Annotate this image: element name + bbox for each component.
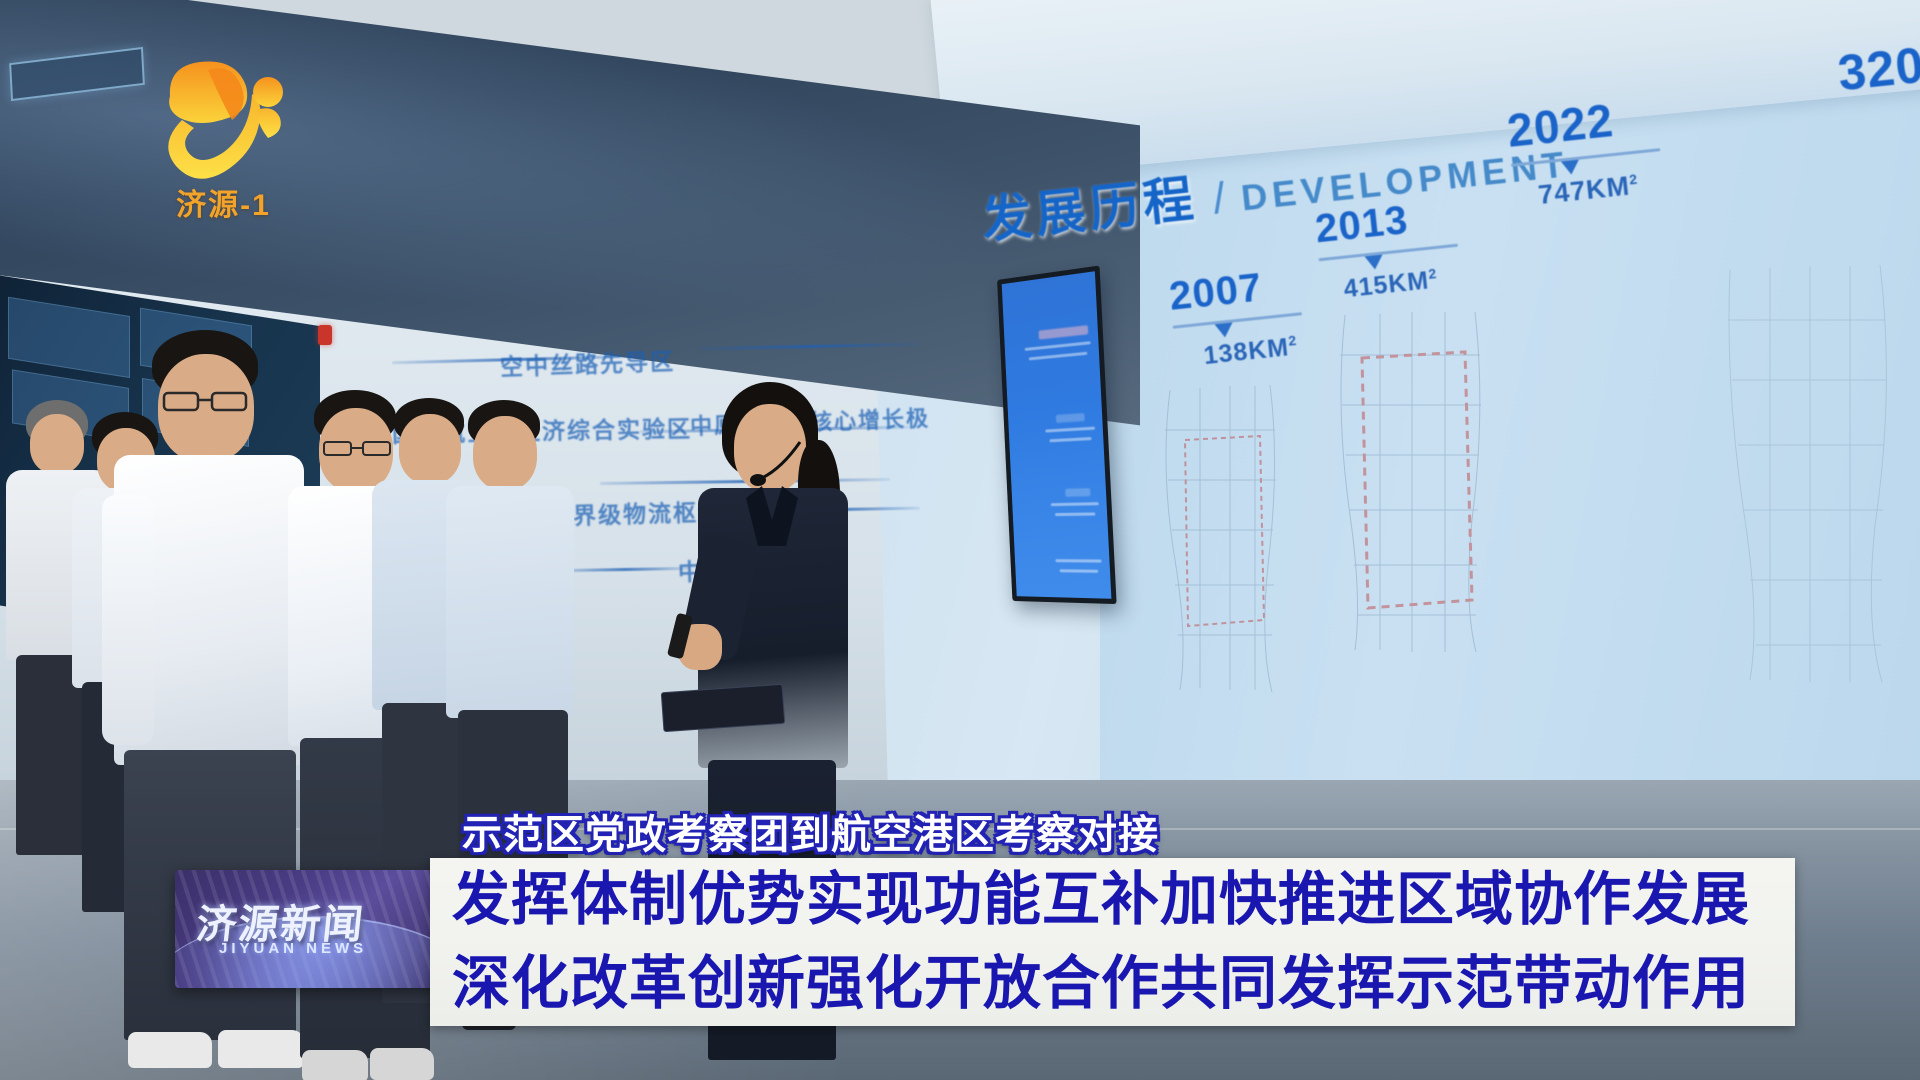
program-title-en: JIYUAN NEWS <box>219 940 367 957</box>
glasses-icon <box>160 388 256 414</box>
headline-line-2: 深化改革创新强化开放合作共同发挥示范带动作用 <box>430 942 1795 1026</box>
lower-third-graphics: 济源新闻 JIYUAN NEWS 示范区党政考察团到航空港区考察对接 发挥体制优… <box>0 780 1920 1080</box>
glasses-icon <box>321 438 395 458</box>
map-sketch-2007 <box>1130 370 1320 700</box>
wall-label-0: 空中丝路先导区 <box>499 342 675 382</box>
jiyuan-butterfly-logo-icon <box>128 48 318 188</box>
headline-line-1: 发挥体制优势实现功能互补加快推进区域协作发展 <box>430 858 1795 942</box>
fire-alarm-icon <box>318 325 332 345</box>
timeline-entry-partial: 320 <box>1835 36 1920 103</box>
map-sketch-2013 <box>1300 300 1530 660</box>
channel-bug: 济源-1 <box>128 48 318 228</box>
timeline-entry-2022: 2022 747KM2 <box>1505 88 1666 213</box>
program-logo: 济源新闻 JIYUAN NEWS <box>175 870 445 988</box>
handheld-tablet <box>661 684 785 732</box>
kicker-text: 示范区党政考察团到航空港区考察对接 <box>462 802 1159 860</box>
kicker-banner: 示范区党政考察团到航空港区考察对接 <box>452 798 1175 866</box>
headline-panel: 发挥体制优势实现功能互补加快推进区域协作发展 深化改革创新强化开放合作共同发挥示… <box>430 858 1795 1026</box>
channel-name-label: 济源-1 <box>136 180 311 224</box>
map-sketch-2022 <box>1700 250 1920 690</box>
timeline-year: 320 <box>1835 36 1920 103</box>
headset-mic-icon <box>728 434 818 492</box>
wall-section-title-separator: / <box>1210 173 1227 224</box>
broadcast-frame: 空中丝路先导区 国家航空港经济综合实验区 中原经济区核心增长极 世界级物流枢纽 … <box>0 0 1920 1080</box>
timeline-entry-2013: 2013 415KM2 <box>1313 193 1463 306</box>
screen-tile <box>8 297 130 378</box>
timeline-entry-2007: 2007 138KM2 <box>1167 261 1307 373</box>
monitor-screen <box>1002 271 1112 599</box>
wall-vertical-monitor <box>997 265 1117 604</box>
